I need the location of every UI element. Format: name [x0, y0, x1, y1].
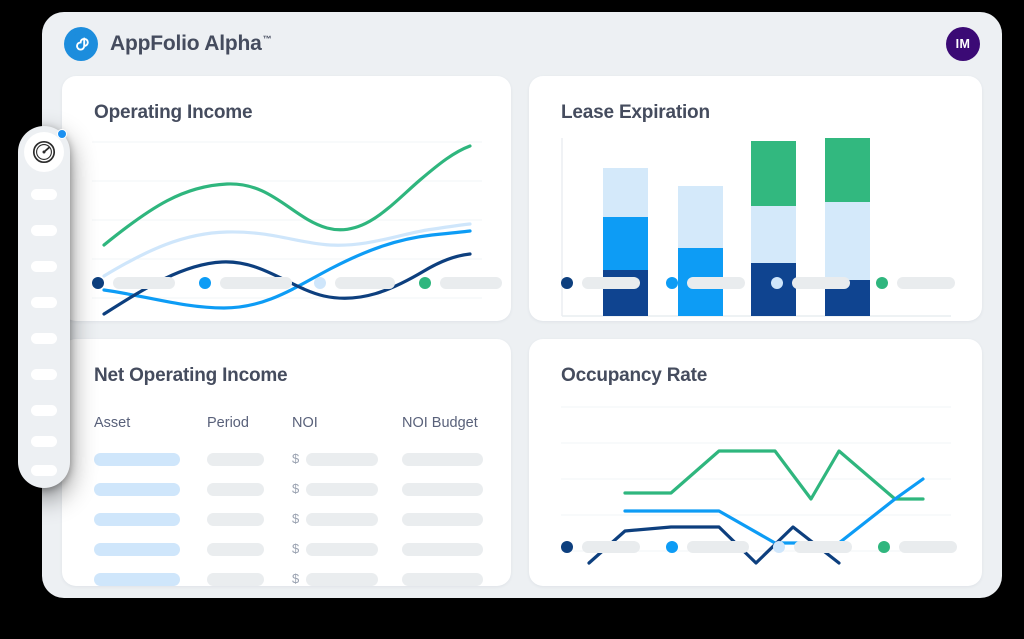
legend-dot-green — [419, 277, 431, 289]
cell-asset — [94, 513, 180, 526]
legend-dot-light-blue — [771, 277, 783, 289]
card-title-occupancy-rate: Occupancy Rate — [561, 365, 707, 387]
titlebar: AppFolio Alpha™ IM — [42, 12, 1002, 76]
column-header-period[interactable]: Period — [207, 415, 249, 431]
card-title-operating-income: Operating Income — [94, 102, 252, 124]
column-header-noi-budget[interactable]: NOI Budget — [402, 415, 478, 431]
legend-dot-green — [876, 277, 888, 289]
legend-dot-blue — [666, 541, 678, 553]
dashboard-grid: Operating Income — [62, 76, 982, 586]
cell-period — [207, 543, 264, 556]
legend-label-placeholder — [335, 277, 395, 289]
cell-asset — [94, 543, 180, 556]
currency-symbol: $ — [292, 481, 299, 496]
occupancy-rate-chart — [561, 403, 951, 586]
appfolio-a-logo-icon — [64, 27, 98, 61]
app-title: AppFolio Alpha™ — [110, 32, 271, 56]
cell-asset — [94, 573, 180, 586]
legend-label-placeholder — [113, 277, 175, 289]
legend-item[interactable] — [878, 541, 957, 553]
legend-occupancy-rate — [561, 541, 957, 553]
sidebar-item-placeholder[interactable] — [31, 225, 57, 236]
cell-noi — [306, 483, 378, 496]
legend-item[interactable] — [771, 277, 850, 289]
cell-noi — [306, 573, 378, 586]
legend-label-placeholder — [582, 541, 640, 553]
legend-item[interactable] — [876, 277, 955, 289]
legend-dot-light-blue — [773, 541, 785, 553]
sidebar-item-placeholder[interactable] — [31, 189, 57, 200]
sidebar-item-placeholder[interactable] — [31, 405, 57, 416]
cell-noi-budget — [402, 513, 483, 526]
currency-symbol: $ — [292, 451, 299, 466]
legend-item[interactable] — [773, 541, 852, 553]
legend-dot-navy — [92, 277, 104, 289]
legend-dot-light-blue — [314, 277, 326, 289]
currency-symbol: $ — [292, 511, 299, 526]
app-window: AppFolio Alpha™ IM Operating Income — [42, 12, 1002, 598]
legend-label-placeholder — [899, 541, 957, 553]
screenshot-stage: AppFolio Alpha™ IM Operating Income — [0, 0, 1024, 639]
cell-period — [207, 453, 264, 466]
card-title-net-operating-income: Net Operating Income — [94, 365, 287, 387]
cell-asset — [94, 453, 180, 466]
legend-item[interactable] — [199, 277, 292, 289]
card-lease-expiration[interactable]: Lease Expiration — [529, 76, 982, 321]
cell-period — [207, 513, 264, 526]
card-title-lease-expiration: Lease Expiration — [561, 102, 710, 124]
cell-period — [207, 573, 264, 586]
gauge-icon — [31, 139, 57, 165]
legend-dot-blue — [199, 277, 211, 289]
cell-noi — [306, 513, 378, 526]
cell-noi — [306, 543, 378, 556]
sidebar-item-placeholder[interactable] — [31, 436, 57, 447]
cell-noi-budget — [402, 573, 483, 586]
legend-item[interactable] — [419, 277, 502, 289]
legend-dot-blue — [666, 277, 678, 289]
cell-noi-budget — [402, 483, 483, 496]
sidebar-item-placeholder[interactable] — [31, 261, 57, 272]
legend-item[interactable] — [92, 277, 175, 289]
trademark-symbol: ™ — [263, 34, 272, 44]
card-occupancy-rate[interactable]: Occupancy Rate — [529, 339, 982, 586]
legend-dot-navy — [561, 541, 573, 553]
cell-noi-budget — [402, 453, 483, 466]
legend-label-placeholder — [440, 277, 502, 289]
sidebar-item-placeholder[interactable] — [31, 297, 57, 308]
legend-label-placeholder — [687, 541, 749, 553]
cell-noi-budget — [402, 543, 483, 556]
legend-operating-income — [92, 277, 502, 289]
legend-lease-expiration — [561, 277, 955, 289]
legend-item[interactable] — [314, 277, 395, 289]
column-header-asset[interactable]: Asset — [94, 415, 130, 431]
legend-item[interactable] — [561, 277, 640, 289]
sidebar-item-placeholder[interactable] — [31, 465, 57, 476]
lease-expiration-chart — [561, 138, 951, 321]
column-header-noi[interactable]: NOI — [292, 415, 318, 431]
legend-label-placeholder — [794, 541, 852, 553]
legend-item[interactable] — [666, 541, 749, 553]
avatar[interactable]: IM — [946, 27, 980, 61]
sidebar-item-placeholder[interactable] — [31, 369, 57, 380]
cell-noi — [306, 453, 378, 466]
sidebar-item-placeholder[interactable] — [31, 333, 57, 344]
legend-item[interactable] — [561, 541, 640, 553]
currency-symbol: $ — [292, 571, 299, 586]
sidebar-rail — [18, 126, 70, 488]
legend-label-placeholder — [792, 277, 850, 289]
notification-badge-dot — [57, 129, 67, 139]
legend-dot-navy — [561, 277, 573, 289]
card-net-operating-income[interactable]: Net Operating Income Asset Period NOI NO… — [62, 339, 511, 586]
cell-asset — [94, 483, 180, 496]
cell-period — [207, 483, 264, 496]
legend-label-placeholder — [687, 277, 745, 289]
legend-label-placeholder — [220, 277, 292, 289]
legend-label-placeholder — [582, 277, 640, 289]
app-title-text: AppFolio Alpha — [110, 32, 262, 55]
card-operating-income[interactable]: Operating Income — [62, 76, 511, 321]
legend-item[interactable] — [666, 277, 745, 289]
currency-symbol: $ — [292, 541, 299, 556]
legend-dot-green — [878, 541, 890, 553]
legend-label-placeholder — [897, 277, 955, 289]
brand[interactable]: AppFolio Alpha™ — [64, 27, 271, 61]
operating-income-chart — [92, 138, 482, 321]
